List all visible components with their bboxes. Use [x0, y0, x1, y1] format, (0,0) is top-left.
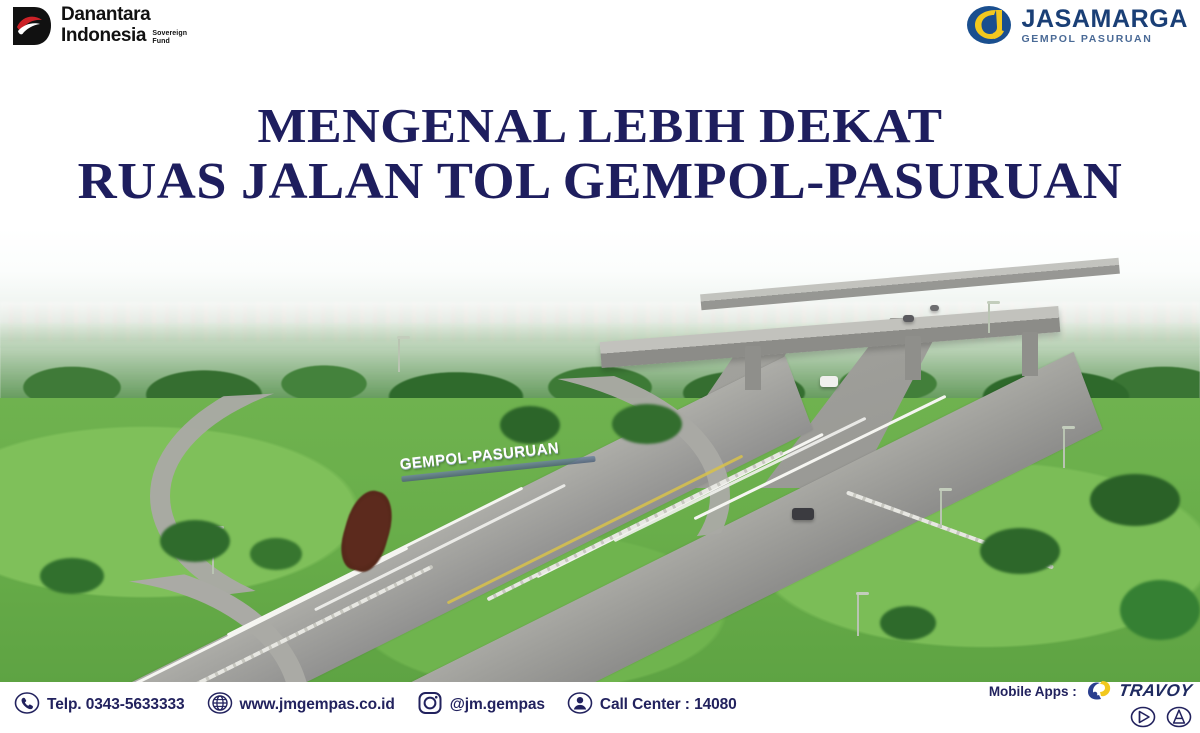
danantara-line2: Indonesia — [61, 26, 150, 45]
tree-cluster — [160, 520, 230, 562]
website-label: www.jmgempas.co.id — [240, 696, 395, 714]
call-center-label: Call Center : 14080 — [600, 696, 737, 714]
title-line-2: RUAS JALAN TOL GEMPOL-PASURUAN — [0, 154, 1200, 210]
street-lamp — [1063, 428, 1065, 468]
footer-mobile-apps: Mobile Apps : TRAVOY — [989, 682, 1192, 728]
mobile-apps-store-row — [1130, 706, 1192, 733]
jasamarga-emblem-icon — [966, 3, 1012, 49]
vehicle-dark-car — [792, 508, 814, 520]
tree-cluster — [1120, 580, 1200, 640]
phone-label: Telp. 0343-5633333 — [47, 696, 185, 714]
phone-icon — [14, 690, 40, 721]
footer-phone[interactable]: Telp. 0343-5633333 — [14, 690, 185, 721]
tree-cluster — [880, 606, 936, 640]
tree-cluster — [612, 404, 682, 444]
jasamarga-logo: JASAMARGA GEMPOL PASURUAN — [966, 3, 1188, 49]
mobile-apps-heading-row: Mobile Apps : TRAVOY — [989, 678, 1192, 705]
street-lamp — [857, 594, 859, 636]
bridge-pier — [905, 336, 921, 380]
page-footer: Telp. 0343-5633333 www.jmgempas.co.id @j… — [0, 682, 1200, 728]
vehicle-white-van — [820, 376, 838, 387]
street-lamp — [398, 338, 400, 372]
mobile-apps-label: Mobile Apps : — [989, 684, 1077, 699]
street-lamp — [940, 490, 942, 528]
tree-cluster — [40, 558, 104, 594]
app-store-icon[interactable] — [1166, 706, 1192, 733]
danantara-logo: Danantara Indonesia Sovereign Fund — [10, 4, 150, 48]
danantara-line1: Danantara — [61, 5, 150, 24]
bridge-pier — [745, 346, 761, 390]
google-play-icon[interactable] — [1130, 706, 1156, 733]
jasamarga-name: JASAMARGA — [1021, 7, 1188, 32]
danantara-sovereign-fund: Sovereign Fund — [152, 30, 198, 45]
footer-website[interactable]: www.jmgempas.co.id — [207, 690, 395, 721]
danantara-sub-line2: Fund — [152, 38, 170, 45]
bridge-pier — [1022, 332, 1038, 376]
toll-road-aerial-photo: GEMPOL-PASURUAN — [0, 228, 1200, 683]
tree-cluster — [500, 406, 560, 444]
instagram-icon — [417, 690, 443, 721]
vehicle-distant — [930, 305, 939, 311]
title-line-1: MENGENAL LEBIH DEKAT — [0, 100, 1200, 152]
travoy-mark-icon — [1083, 678, 1113, 705]
page-header: Danantara Indonesia Sovereign Fund JASAM… — [0, 0, 1200, 58]
instagram-label: @jm.gempas — [450, 696, 545, 714]
jasamarga-subtitle: GEMPOL PASURUAN — [1021, 33, 1152, 45]
danantara-d-mark-icon — [10, 4, 54, 48]
danantara-wordmark: Danantara Indonesia Sovereign Fund — [61, 4, 150, 45]
tree-cluster — [250, 538, 302, 570]
tree-cluster — [1090, 474, 1180, 526]
footer-call-center[interactable]: Call Center : 14080 — [567, 690, 737, 721]
page-title: MENGENAL LEBIH DEKAT RUAS JALAN TOL GEMP… — [0, 100, 1200, 210]
footer-instagram[interactable]: @jm.gempas — [417, 690, 545, 721]
danantara-sub-line1: Sovereign — [152, 30, 187, 37]
globe-icon — [207, 690, 233, 721]
travoy-wordmark: TRAVOY — [1117, 681, 1193, 701]
jasamarga-wordmark: JASAMARGA GEMPOL PASURUAN — [1021, 7, 1188, 45]
vehicle-distant — [903, 315, 914, 322]
street-lamp — [988, 303, 990, 333]
tree-cluster — [980, 528, 1060, 574]
user-headset-icon — [567, 690, 593, 721]
